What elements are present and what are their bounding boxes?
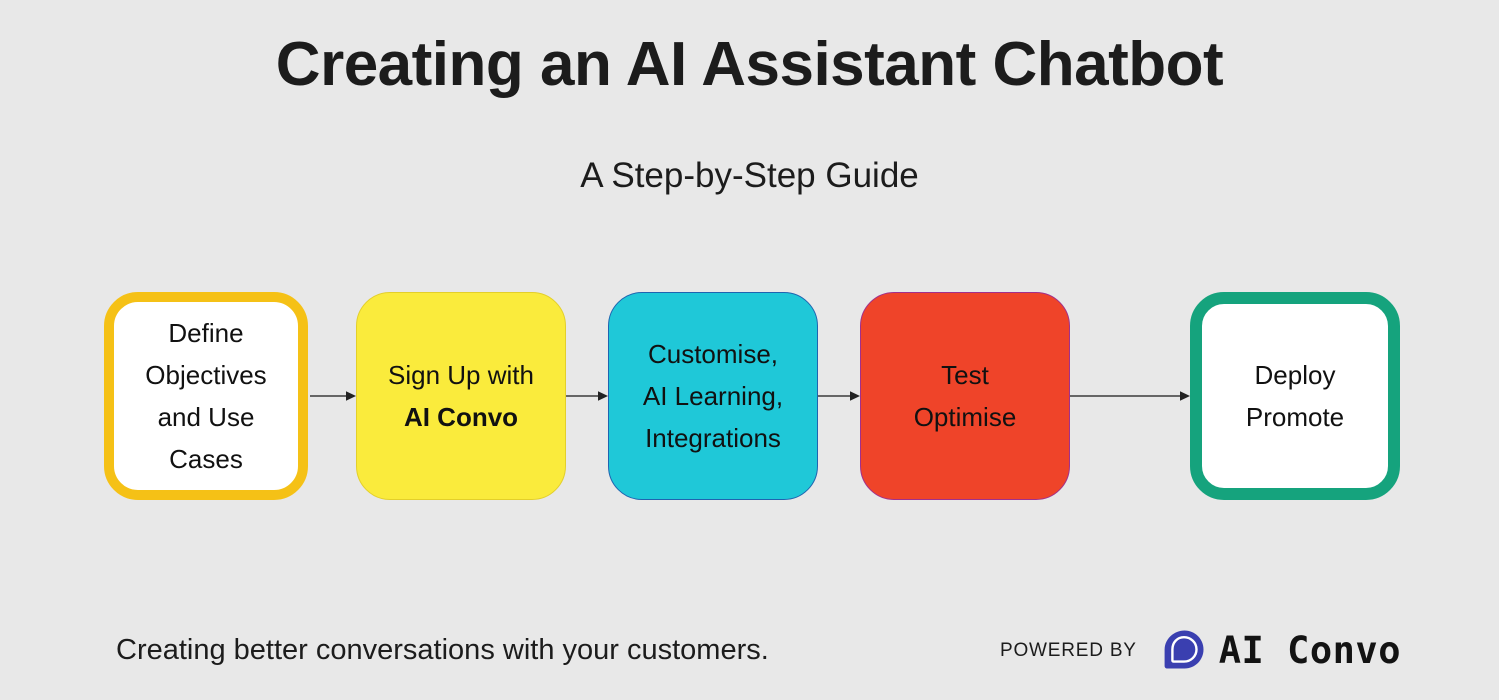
flow-step-test-optimise[interactable]: Test Optimise bbox=[860, 292, 1070, 500]
flow-arrow-icon bbox=[566, 388, 608, 404]
tagline: Creating better conversations with your … bbox=[116, 630, 769, 670]
flow-step-label: Sign Up with AI Convo bbox=[382, 354, 540, 438]
powered-by-label: POWERED BY bbox=[1000, 641, 1137, 660]
flow-step-sign-up[interactable]: Sign Up with AI Convo bbox=[356, 292, 566, 500]
flow-step-label: Deploy Promote bbox=[1240, 354, 1350, 438]
flow-arrow-icon bbox=[818, 388, 860, 404]
brand-lockup: POWERED BY AI Convo bbox=[1000, 626, 1401, 674]
flow-arrow-icon bbox=[310, 388, 356, 404]
flow-step-line-brand: AI Convo bbox=[404, 402, 518, 432]
page-title: Creating an AI Assistant Chatbot bbox=[0, 34, 1499, 96]
flow-step-line: AI Learning, bbox=[643, 381, 783, 411]
flow-step-line: Deploy bbox=[1255, 360, 1336, 390]
flow-step-line: Cases bbox=[169, 444, 243, 474]
process-flow: Define Objectives and Use Cases Sign Up … bbox=[104, 292, 1400, 500]
flow-step-deploy-promote[interactable]: Deploy Promote bbox=[1190, 292, 1400, 500]
flow-step-label: Define Objectives and Use Cases bbox=[139, 312, 272, 480]
page-subtitle: A Step-by-Step Guide bbox=[0, 96, 1499, 193]
flow-step-line: and Use bbox=[158, 402, 255, 432]
flow-step-customise[interactable]: Customise, AI Learning, Integrations bbox=[608, 292, 818, 500]
flow-step-label: Test Optimise bbox=[908, 354, 1023, 438]
infographic-canvas: Creating an AI Assistant Chatbot A Step-… bbox=[0, 0, 1499, 700]
flow-step-label: Customise, AI Learning, Integrations bbox=[637, 333, 789, 459]
brand-name: AI Convo bbox=[1219, 632, 1401, 669]
flow-step-define-objectives[interactable]: Define Objectives and Use Cases bbox=[104, 292, 308, 500]
speech-bubble-icon bbox=[1161, 627, 1207, 673]
flow-step-line: Define bbox=[168, 318, 243, 348]
flow-step-line: Test bbox=[941, 360, 989, 390]
flow-step-line: Integrations bbox=[645, 423, 781, 453]
flow-step-line: Optimise bbox=[914, 402, 1017, 432]
flow-arrow-icon bbox=[1070, 388, 1190, 404]
footer: Creating better conversations with your … bbox=[0, 620, 1499, 684]
flow-step-line: Sign Up with bbox=[388, 360, 534, 390]
header: Creating an AI Assistant Chatbot A Step-… bbox=[0, 34, 1499, 193]
flow-step-line: Objectives bbox=[145, 360, 266, 390]
flow-step-line: Customise, bbox=[648, 339, 778, 369]
flow-step-line: Promote bbox=[1246, 402, 1344, 432]
